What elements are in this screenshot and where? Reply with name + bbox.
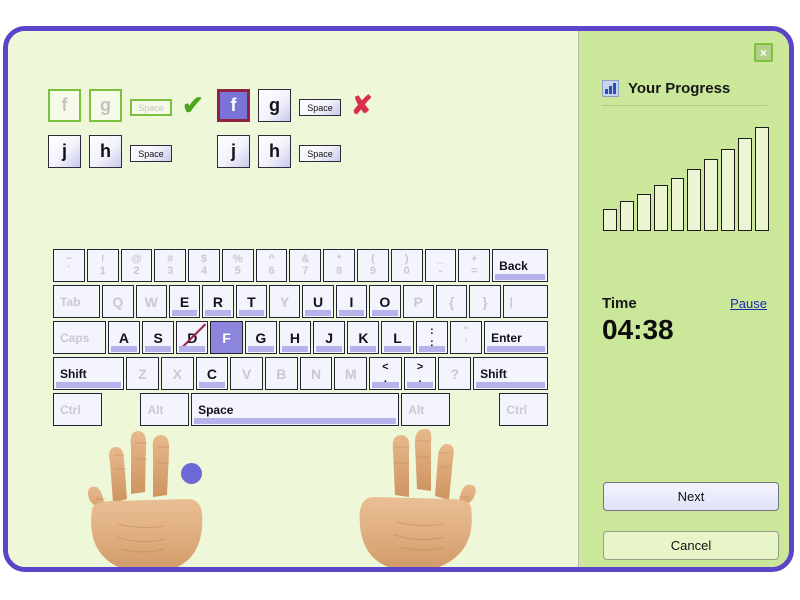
key-semicolon[interactable]: :; — [416, 321, 448, 354]
key-c[interactable]: C — [196, 357, 229, 390]
key-label: Ctrl — [60, 403, 81, 417]
prompt-key-f-done: f — [48, 89, 81, 122]
window-inner: f g Space ✔ j h Space f g — [8, 31, 789, 567]
prompt-key-g-done: g — [89, 89, 122, 122]
progress-bar-6 — [687, 169, 701, 231]
key-label: F — [222, 330, 231, 346]
key-x[interactable]: X — [161, 357, 194, 390]
key-b[interactable]: B — [265, 357, 298, 390]
key-label: P — [414, 294, 423, 310]
right-hand — [360, 429, 476, 567]
key-label: A — [119, 330, 129, 346]
key-label: M — [345, 366, 357, 382]
key-p[interactable]: P — [403, 285, 434, 318]
key-label: ^6 — [268, 254, 274, 277]
key-label: Alt — [147, 403, 163, 417]
key-backtick[interactable]: ~` — [53, 249, 85, 282]
key-label: H — [290, 330, 300, 346]
key-e[interactable]: E — [169, 285, 200, 318]
close-icon[interactable]: × — [754, 43, 773, 62]
key-y[interactable]: Y — [269, 285, 300, 318]
key-k[interactable]: K — [347, 321, 379, 354]
prompt-key-h: h — [89, 135, 122, 168]
keyboard-gap — [104, 393, 139, 426]
key-label: )0 — [404, 254, 410, 277]
progress-bar-4 — [654, 185, 668, 231]
key-r[interactable]: R — [202, 285, 233, 318]
key-label: !1 — [100, 254, 106, 277]
key-label: V — [242, 366, 251, 382]
progress-sidebar: × Your Progress Time Pause 04:38 Next Ca… — [579, 31, 789, 567]
keyboard-row-bottom-row: ShiftZXCVBNM<,>.?Shift — [53, 357, 550, 390]
key-label: K — [358, 330, 368, 346]
prompt-group-current: f g Space ✘ j h Space — [217, 89, 373, 181]
key-h[interactable]: H — [279, 321, 311, 354]
keyboard-row-space-row: CtrlAltSpaceAltCtrl — [53, 393, 550, 426]
key-q[interactable]: Q — [102, 285, 133, 318]
prompt-key-g-current: g — [258, 89, 291, 122]
key-v[interactable]: V — [230, 357, 263, 390]
keyboard-row-top-row: TabQWERTYUIOP{}| — [53, 285, 550, 318]
key-label: Shift — [480, 367, 507, 381]
progress-bar-10 — [755, 127, 769, 231]
key-label: ~` — [66, 254, 72, 277]
key-digit-8[interactable]: *8 — [323, 249, 355, 282]
key-l[interactable]: L — [381, 321, 413, 354]
key-u[interactable]: U — [302, 285, 333, 318]
key-label: $4 — [201, 254, 207, 277]
key-label: X — [173, 366, 182, 382]
key-digit-0[interactable]: )0 — [391, 249, 423, 282]
key-shift-right[interactable]: Shift — [473, 357, 548, 390]
prompt-key-space-done: Space — [130, 99, 172, 116]
key-label: J — [325, 330, 333, 346]
prompt-key-space-current-2: Space — [299, 145, 341, 162]
progress-bar-5 — [671, 178, 685, 231]
incorrect-cross-icon: ✘ — [351, 89, 373, 122]
prompt-key-f-active: f — [217, 89, 250, 122]
progress-bar-9 — [738, 138, 752, 231]
progress-divider — [602, 105, 767, 106]
key-bracket-right[interactable]: } — [469, 285, 500, 318]
key-label: } — [482, 294, 487, 310]
key-w[interactable]: W — [136, 285, 167, 318]
progress-bar-chart — [603, 119, 769, 231]
key-label: "' — [463, 326, 468, 349]
prompt-row-top-current: f g Space ✘ — [217, 89, 373, 135]
prompt-row-top: f g Space ✔ — [48, 89, 204, 135]
progress-bar-8 — [721, 149, 735, 231]
key-digit-1[interactable]: !1 — [87, 249, 119, 282]
key-f[interactable]: F — [210, 321, 242, 354]
key-digit-4[interactable]: $4 — [188, 249, 220, 282]
progress-bar-1 — [603, 209, 617, 231]
key-digit-2[interactable]: @2 — [121, 249, 153, 282]
key-label: D — [187, 330, 197, 346]
prompt-row-bottom: j h Space — [48, 135, 204, 181]
key-label: Back — [499, 259, 528, 273]
typing-tutor-window: f g Space ✔ j h Space f g — [3, 26, 794, 572]
key-j[interactable]: J — [313, 321, 345, 354]
key-backspace[interactable]: Back — [492, 249, 548, 282]
key-label: %5 — [233, 254, 243, 277]
progress-header: Your Progress — [602, 80, 730, 97]
key-label: _- — [437, 254, 443, 277]
key-label: T — [247, 294, 256, 310]
key-label: >. — [417, 362, 423, 385]
key-m[interactable]: M — [334, 357, 367, 390]
key-label: U — [313, 294, 323, 310]
key-label: R — [213, 294, 223, 310]
key-g[interactable]: G — [245, 321, 277, 354]
key-label: G — [255, 330, 266, 346]
key-digit-3[interactable]: #3 — [154, 249, 186, 282]
key-enter[interactable]: Enter — [484, 321, 548, 354]
key-label: Tab — [60, 295, 80, 309]
key-label: &7 — [301, 254, 309, 277]
key-label: W — [145, 294, 158, 310]
key-label: E — [180, 294, 189, 310]
bar-chart-icon — [602, 80, 619, 97]
virtual-keyboard[interactable]: ~`!1@2#3$4%5^6&7*8(9)0_-+=BackTabQWERTYU… — [53, 249, 550, 429]
key-label: #3 — [167, 254, 173, 277]
key-label: ? — [450, 366, 459, 382]
key-label: I — [350, 294, 354, 310]
key-label: Caps — [60, 331, 89, 345]
key-label: Alt — [408, 403, 424, 417]
key-equals[interactable]: += — [458, 249, 490, 282]
next-button[interactable]: Next — [603, 482, 779, 511]
key-label: Space — [198, 403, 233, 417]
key-label: Ctrl — [506, 403, 527, 417]
prompt-key-h-current: h — [258, 135, 291, 168]
key-ctrl-left[interactable]: Ctrl — [53, 393, 102, 426]
prompt-key-j: j — [48, 135, 81, 168]
progress-bar-7 — [704, 159, 718, 231]
key-alt-right[interactable]: Alt — [401, 393, 450, 426]
key-z[interactable]: Z — [126, 357, 159, 390]
key-ctrl-right[interactable]: Ctrl — [499, 393, 548, 426]
left-hand — [88, 431, 202, 567]
progress-bar-3 — [637, 194, 651, 231]
progress-bar-2 — [620, 201, 634, 231]
key-period[interactable]: >. — [404, 357, 437, 390]
key-capslock[interactable]: Caps — [53, 321, 106, 354]
key-label: { — [449, 294, 454, 310]
key-label: @2 — [131, 254, 142, 277]
main-pane: f g Space ✔ j h Space f g — [8, 31, 578, 567]
key-label: B — [276, 366, 286, 382]
cancel-button[interactable]: Cancel — [603, 531, 779, 560]
key-space[interactable]: Space — [191, 393, 399, 426]
key-label: (9 — [370, 254, 376, 277]
key-label: L — [393, 330, 402, 346]
time-row: Time Pause — [602, 295, 767, 312]
key-minus[interactable]: _- — [425, 249, 457, 282]
key-i[interactable]: I — [336, 285, 367, 318]
key-a[interactable]: A — [108, 321, 140, 354]
pause-link[interactable]: Pause — [730, 296, 767, 311]
key-slash[interactable]: ? — [438, 357, 471, 390]
keyboard-row-home-row: CapsASDFGHJKL:;"'Enter — [53, 321, 550, 354]
key-label: O — [379, 294, 390, 310]
prompt-key-space-2: Space — [130, 145, 172, 162]
prompt-key-space-current: Space — [299, 99, 341, 116]
prompt-key-j-current: j — [217, 135, 250, 168]
key-s[interactable]: S — [142, 321, 174, 354]
finger-position-indicator — [181, 463, 202, 484]
key-digit-7[interactable]: &7 — [289, 249, 321, 282]
keyboard-gap — [452, 393, 497, 426]
key-label: N — [311, 366, 321, 382]
key-label: Y — [280, 294, 289, 310]
key-label: Enter — [491, 331, 522, 345]
key-tab[interactable]: Tab — [53, 285, 100, 318]
prompt-row-bottom-current: j h Space — [217, 135, 373, 181]
key-label: | — [510, 295, 513, 309]
key-bracket-left[interactable]: { — [436, 285, 467, 318]
key-n[interactable]: N — [300, 357, 333, 390]
key-label: Q — [112, 294, 123, 310]
prompt-group-completed: f g Space ✔ j h Space — [48, 89, 204, 181]
key-digit-5[interactable]: %5 — [222, 249, 254, 282]
key-label: :; — [430, 326, 434, 349]
key-digit-6[interactable]: ^6 — [256, 249, 288, 282]
key-alt-left[interactable]: Alt — [140, 393, 189, 426]
key-label: Shift — [60, 367, 87, 381]
key-t[interactable]: T — [236, 285, 267, 318]
key-label: <, — [382, 362, 388, 385]
keyboard-row-number-row: ~`!1@2#3$4%5^6&7*8(9)0_-+=Back — [53, 249, 550, 282]
key-quote[interactable]: "' — [450, 321, 482, 354]
key-label: += — [471, 254, 477, 277]
time-label: Time — [602, 295, 637, 312]
key-label: C — [207, 366, 217, 382]
correct-checkmark-icon: ✔ — [182, 89, 204, 122]
key-d[interactable]: D — [176, 321, 208, 354]
progress-title: Your Progress — [628, 80, 730, 97]
key-label: S — [153, 330, 162, 346]
key-label: *8 — [336, 254, 342, 277]
key-o[interactable]: O — [369, 285, 400, 318]
key-backslash[interactable]: | — [503, 285, 548, 318]
key-comma[interactable]: <, — [369, 357, 402, 390]
hands-illustration — [78, 429, 498, 567]
key-digit-9[interactable]: (9 — [357, 249, 389, 282]
time-value: 04:38 — [602, 314, 674, 346]
key-shift-left[interactable]: Shift — [53, 357, 124, 390]
key-label: Z — [138, 366, 147, 382]
